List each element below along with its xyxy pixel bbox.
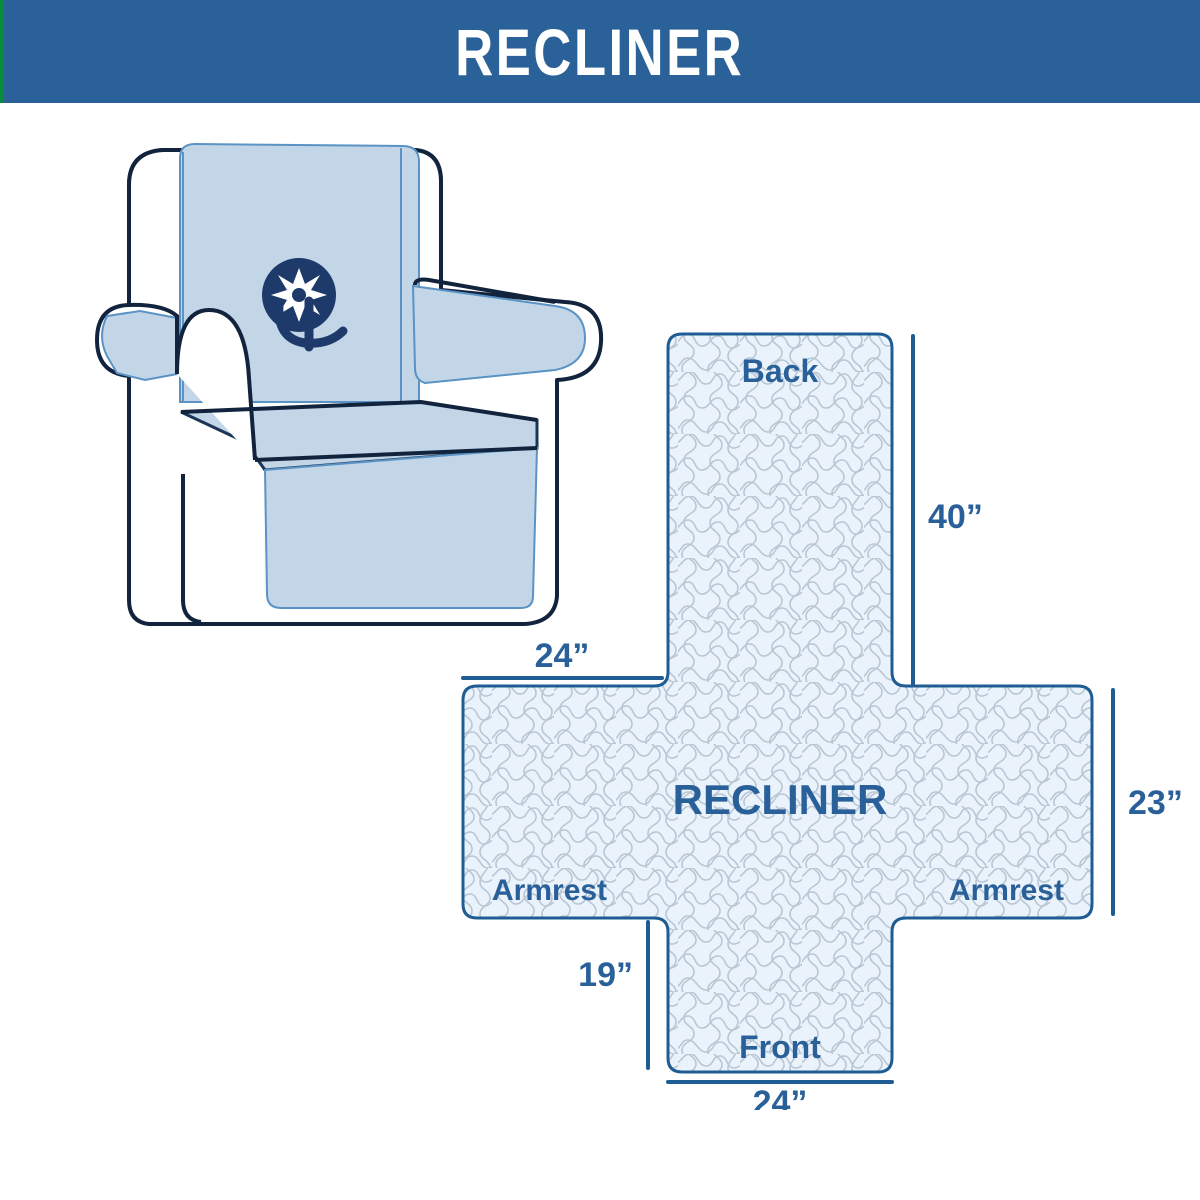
dim-label-front-height: 19” <box>578 956 633 994</box>
dim-label-armrest-height: 23” <box>1128 784 1183 822</box>
page-title: RECLINER <box>455 19 744 85</box>
cover-cross-outline <box>463 334 1092 1072</box>
panel-label-armrest-right: Armrest <box>949 874 1064 907</box>
dim-label-back-height: 40” <box>928 498 983 536</box>
panel-label-center: RECLINER <box>673 776 888 823</box>
slipcover-pattern-diagram: 40” 24” 23” 19” 24” Back RECLINER Armres… <box>430 310 1200 1110</box>
header-banner: RECLINER <box>0 0 1200 103</box>
dim-label-front-width: 24” <box>753 1084 808 1110</box>
panel-label-back: Back <box>742 353 819 389</box>
panel-label-armrest-left: Armrest <box>492 874 607 907</box>
page-root: RECLINER <box>0 0 1200 1200</box>
dim-label-back-width: 24” <box>535 637 590 675</box>
panel-label-front: Front <box>739 1029 821 1065</box>
header-accent-stripe <box>0 0 4 103</box>
